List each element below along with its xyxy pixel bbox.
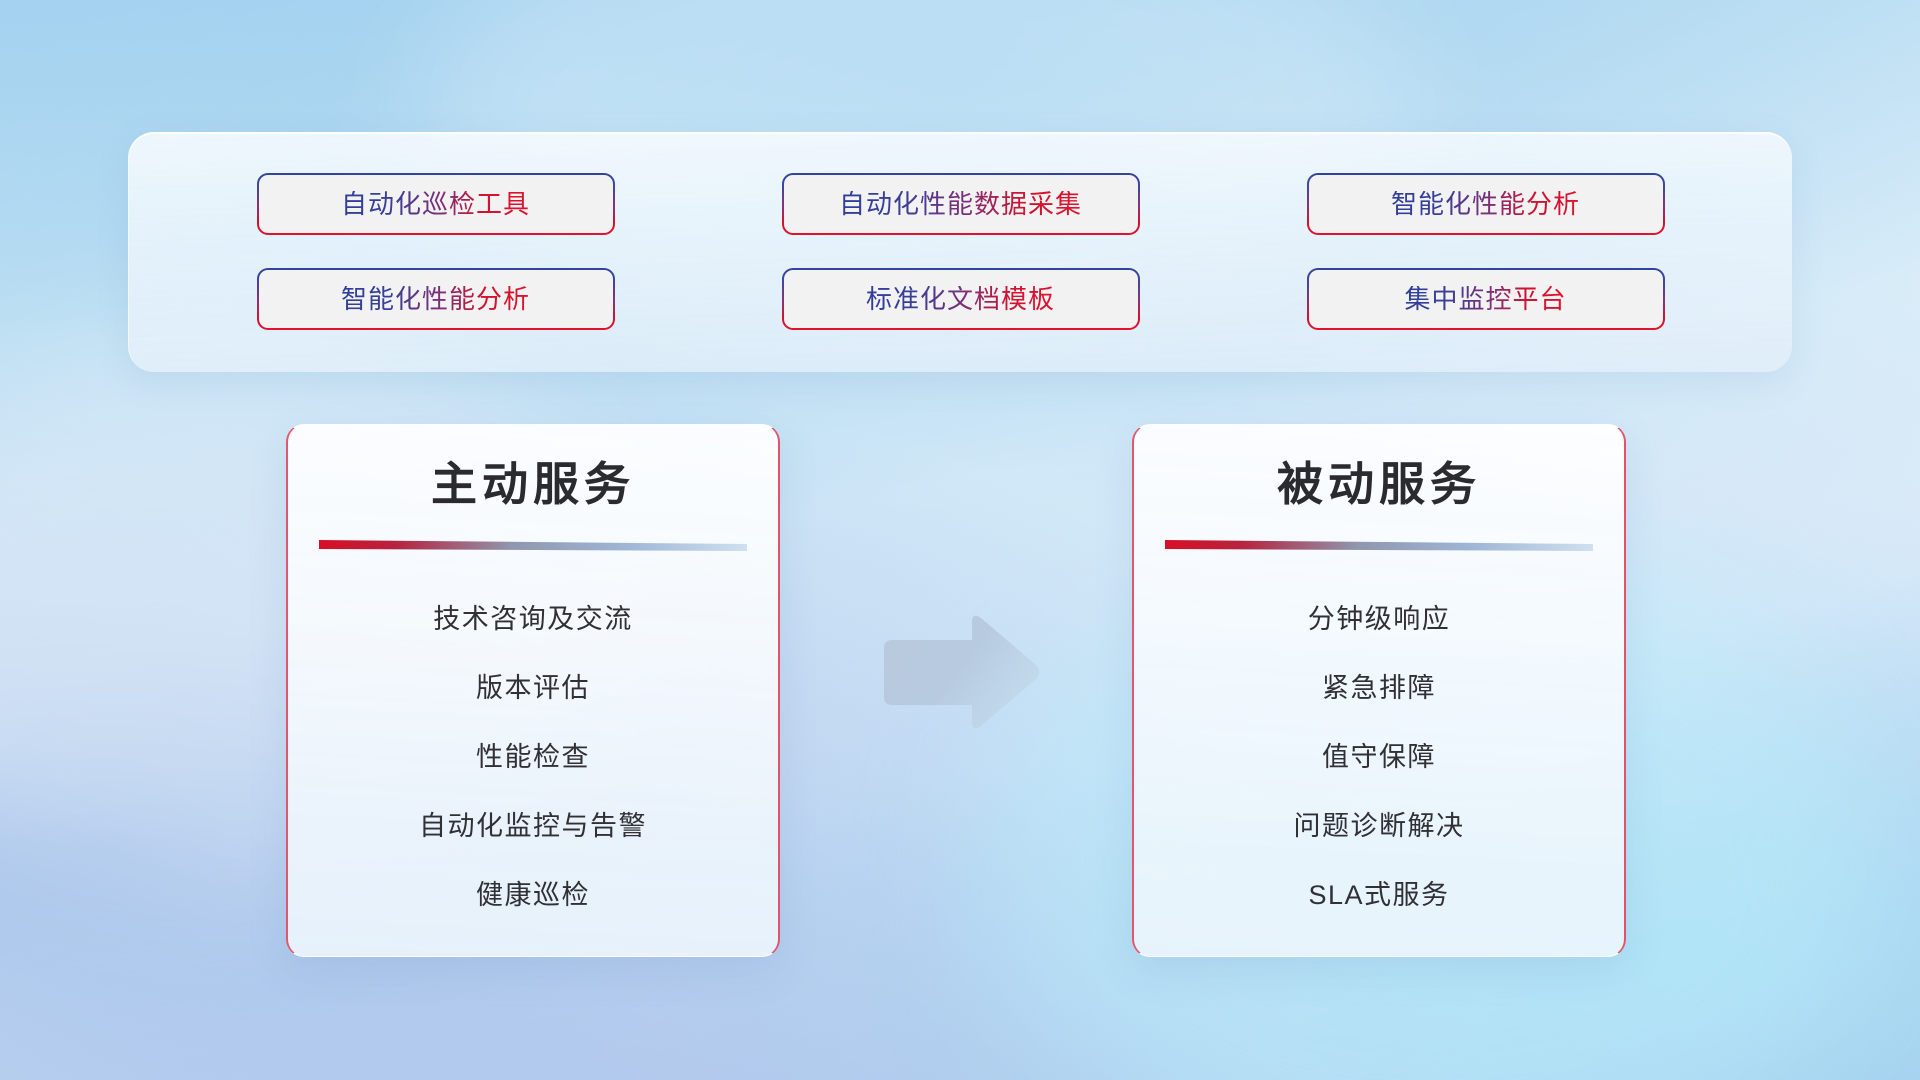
capability-pill-2[interactable]: 自动化性能数据采集 xyxy=(782,173,1140,235)
capability-pill-1[interactable]: 自动化巡检工具 xyxy=(257,173,615,235)
service-item: 性能检查 xyxy=(288,723,778,792)
service-item: 值守保障 xyxy=(1134,723,1624,792)
service-item-list: 技术咨询及交流 版本评估 性能检查 自动化监控与告警 健康巡检 xyxy=(288,585,778,930)
capability-banner: 自动化巡检工具 自动化性能数据采集 智能化性能分析 智能化性能分析 标准化文档模… xyxy=(128,132,1792,372)
arrow-right-icon xyxy=(876,612,1042,734)
capability-pill-6[interactable]: 集中监控平台 xyxy=(1307,268,1665,330)
service-item: SLA式服务 xyxy=(1134,861,1624,930)
slide-canvas: 自动化巡检工具 自动化性能数据采集 智能化性能分析 智能化性能分析 标准化文档模… xyxy=(0,0,1920,1080)
service-item-list: 分钟级响应 紧急排障 值守保障 问题诊断解决 SLA式服务 xyxy=(1134,585,1624,930)
service-item: 版本评估 xyxy=(288,654,778,723)
card-title-divider xyxy=(1165,538,1593,551)
service-item: 自动化监控与告警 xyxy=(288,792,778,861)
capability-pill-3[interactable]: 智能化性能分析 xyxy=(1307,173,1665,235)
service-card-proactive[interactable]: 主动服务 技术咨询及交流 版本评估 性能检查 自动化监控与告警 xyxy=(286,424,780,957)
capability-pill-label: 自动化巡检工具 xyxy=(341,191,530,217)
capability-pill-label: 智能化性能分析 xyxy=(1391,191,1580,217)
card-title-divider xyxy=(319,538,747,551)
capability-pill-5[interactable]: 标准化文档模板 xyxy=(782,268,1140,330)
service-item: 紧急排障 xyxy=(1134,654,1624,723)
service-item: 健康巡检 xyxy=(288,861,778,930)
service-item: 问题诊断解决 xyxy=(1134,792,1624,861)
service-item: 技术咨询及交流 xyxy=(288,585,778,654)
capability-pill-label: 自动化性能数据采集 xyxy=(839,191,1082,217)
service-item: 分钟级响应 xyxy=(1134,585,1624,654)
capability-pill-label: 集中监控平台 xyxy=(1404,286,1566,312)
capability-pill-label: 智能化性能分析 xyxy=(341,286,530,312)
service-card-reactive[interactable]: 被动服务 分钟级响应 紧急排障 值守保障 问题诊断解决 xyxy=(1132,424,1626,957)
card-title: 被动服务 xyxy=(1134,459,1624,510)
capability-pill-4[interactable]: 智能化性能分析 xyxy=(257,268,615,330)
capability-pill-label: 标准化文档模板 xyxy=(866,286,1055,312)
card-title: 主动服务 xyxy=(288,459,778,510)
